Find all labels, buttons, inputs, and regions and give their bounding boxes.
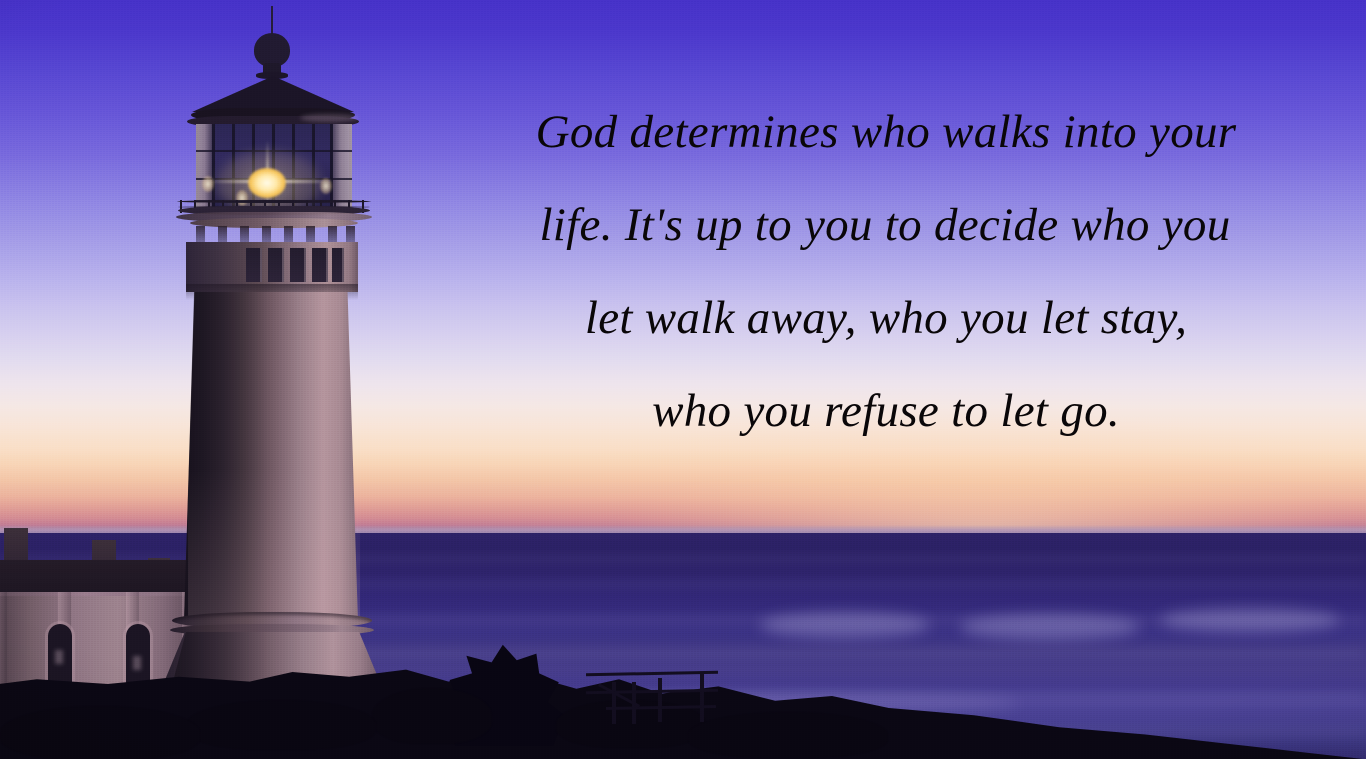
fence-post [612, 682, 616, 724]
fence-post [700, 674, 704, 722]
quote-line-2: life. It's up to you to decide who you [436, 179, 1336, 272]
shrub-silhouette [0, 706, 200, 759]
wallpaper-canvas: God determines who walks into your life.… [0, 0, 1366, 759]
quote-text-block: God determines who walks into your life.… [436, 86, 1336, 458]
fence-post [658, 678, 662, 722]
window-glint [133, 656, 141, 670]
wave-band [0, 648, 1366, 658]
shrub-silhouette [372, 688, 492, 744]
wave-breaker [760, 612, 930, 638]
shrub-silhouette [186, 700, 376, 750]
wave-band [0, 556, 1366, 562]
quote-line-3: let walk away, who you let stay, [436, 272, 1336, 365]
quote-line-1: God determines who walks into your [436, 86, 1336, 179]
wave-breaker [1160, 608, 1340, 632]
quote-line-4: who you refuse to let go. [436, 365, 1336, 458]
wave-breaker [960, 614, 1140, 640]
shrub-silhouette [688, 712, 888, 758]
wave-band [0, 580, 1366, 588]
window-glint [55, 650, 63, 664]
